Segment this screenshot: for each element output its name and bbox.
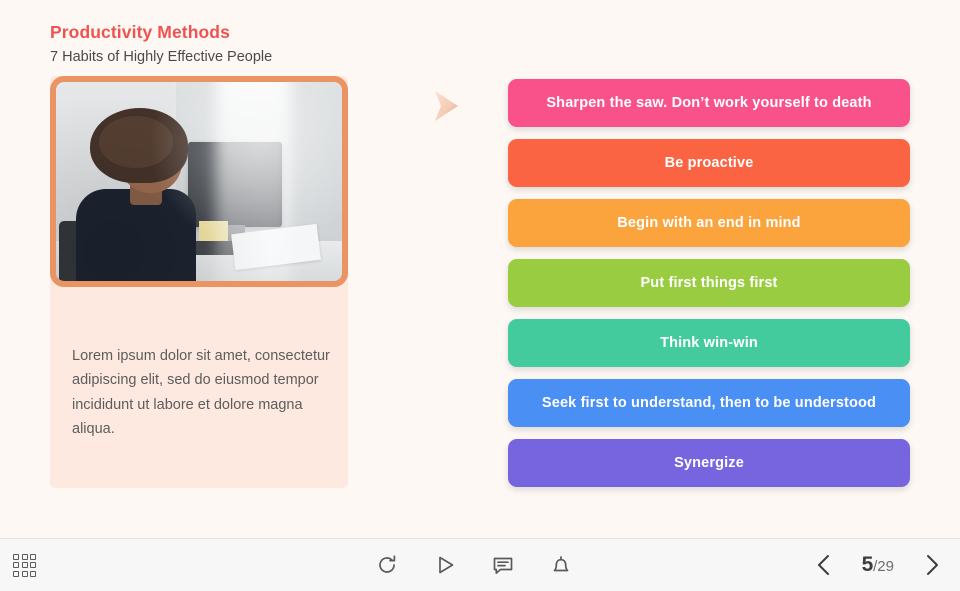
habit-bar-7[interactable]: Synergize xyxy=(508,439,910,487)
restart-icon[interactable] xyxy=(375,553,399,577)
page-counter: 5 /29 xyxy=(862,553,894,577)
chevron-right-pointer-icon xyxy=(432,88,462,124)
toolbar-left-group xyxy=(13,539,36,591)
chevron-left-icon[interactable] xyxy=(812,552,836,578)
page-total: /29 xyxy=(873,558,894,575)
card-body-text: Lorem ipsum dolor sit amet, consectetur … xyxy=(72,344,330,441)
habit-bar-1[interactable]: Sharpen the saw. Don’t work yourself to … xyxy=(508,79,910,127)
page-title: Productivity Methods xyxy=(50,22,470,43)
page-subtitle: 7 Habits of Highly Effective People xyxy=(50,48,470,66)
chevron-right-icon[interactable] xyxy=(920,552,944,578)
bottom-toolbar: 5 /29 xyxy=(0,538,960,591)
habit-bar-3[interactable]: Begin with an end in mind xyxy=(508,199,910,247)
photo-overlay xyxy=(56,82,342,281)
photo-image xyxy=(56,82,342,281)
habit-bar-5[interactable]: Think win-win xyxy=(508,319,910,367)
bell-icon[interactable] xyxy=(549,553,573,577)
habit-bar-6[interactable]: Seek first to understand, then to be und… xyxy=(508,379,910,427)
habit-bar-label: Begin with an end in mind xyxy=(617,215,800,231)
habit-bar-4[interactable]: Put first things first xyxy=(508,259,910,307)
toolbar-center-group xyxy=(375,539,573,591)
habit-bar-label: Think win-win xyxy=(660,335,758,351)
habit-bar-2[interactable]: Be proactive xyxy=(508,139,910,187)
photo-frame xyxy=(50,76,348,287)
habit-bar-label: Sharpen the saw. Don’t work yourself to … xyxy=(546,95,871,111)
play-icon[interactable] xyxy=(433,553,457,577)
habit-bar-label: Seek first to understand, then to be und… xyxy=(542,395,876,411)
page-current: 5 xyxy=(862,553,873,577)
habit-bar-label: Be proactive xyxy=(665,155,754,171)
habits-list: Sharpen the saw. Don’t work yourself to … xyxy=(508,79,910,487)
slide-content-area: Productivity Methods 7 Habits of Highly … xyxy=(0,0,960,538)
heading-block: Productivity Methods 7 Habits of Highly … xyxy=(50,22,470,66)
info-card: Lorem ipsum dolor sit amet, consectetur … xyxy=(50,76,348,488)
comment-icon[interactable] xyxy=(491,553,515,577)
habit-bar-label: Synergize xyxy=(674,455,744,471)
slide-root: Productivity Methods 7 Habits of Highly … xyxy=(0,0,960,590)
habit-bar-label: Put first things first xyxy=(640,275,777,291)
grid-menu-icon[interactable] xyxy=(13,554,36,577)
toolbar-right-group: 5 /29 xyxy=(812,539,944,591)
